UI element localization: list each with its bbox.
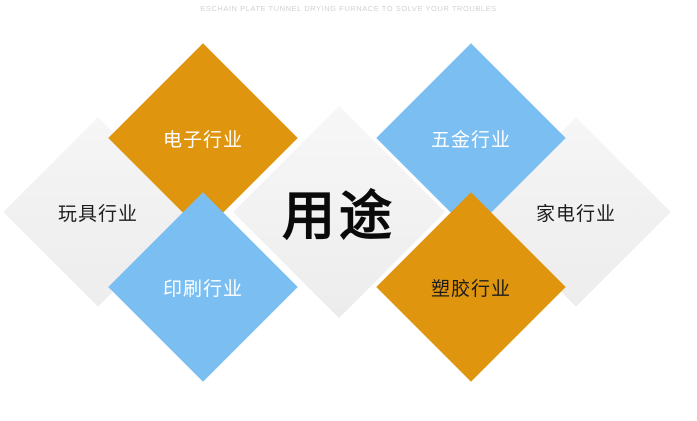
diagram-canvas: ESCHAIN PLATE TUNNEL DRYING FURNACE TO S… <box>0 0 697 414</box>
banner-headline: ESCHAIN PLATE TUNNEL DRYING FURNACE TO S… <box>0 4 697 13</box>
banner-strip: ESCHAIN PLATE TUNNEL DRYING FURNACE TO S… <box>0 0 697 16</box>
diamond-label-hardware: 五金行业 <box>404 71 538 205</box>
diamond-label-electronics: 电子行业 <box>136 71 270 205</box>
diamond-node-plastic[interactable]: 塑胶行业 <box>376 192 566 382</box>
diamond-label-plastic: 塑胶行业 <box>404 220 538 354</box>
diamond-label-printing: 印刷行业 <box>136 220 270 354</box>
diamond-label-center: 用途 <box>264 137 414 287</box>
diamond-node-printing[interactable]: 印刷行业 <box>108 192 298 382</box>
